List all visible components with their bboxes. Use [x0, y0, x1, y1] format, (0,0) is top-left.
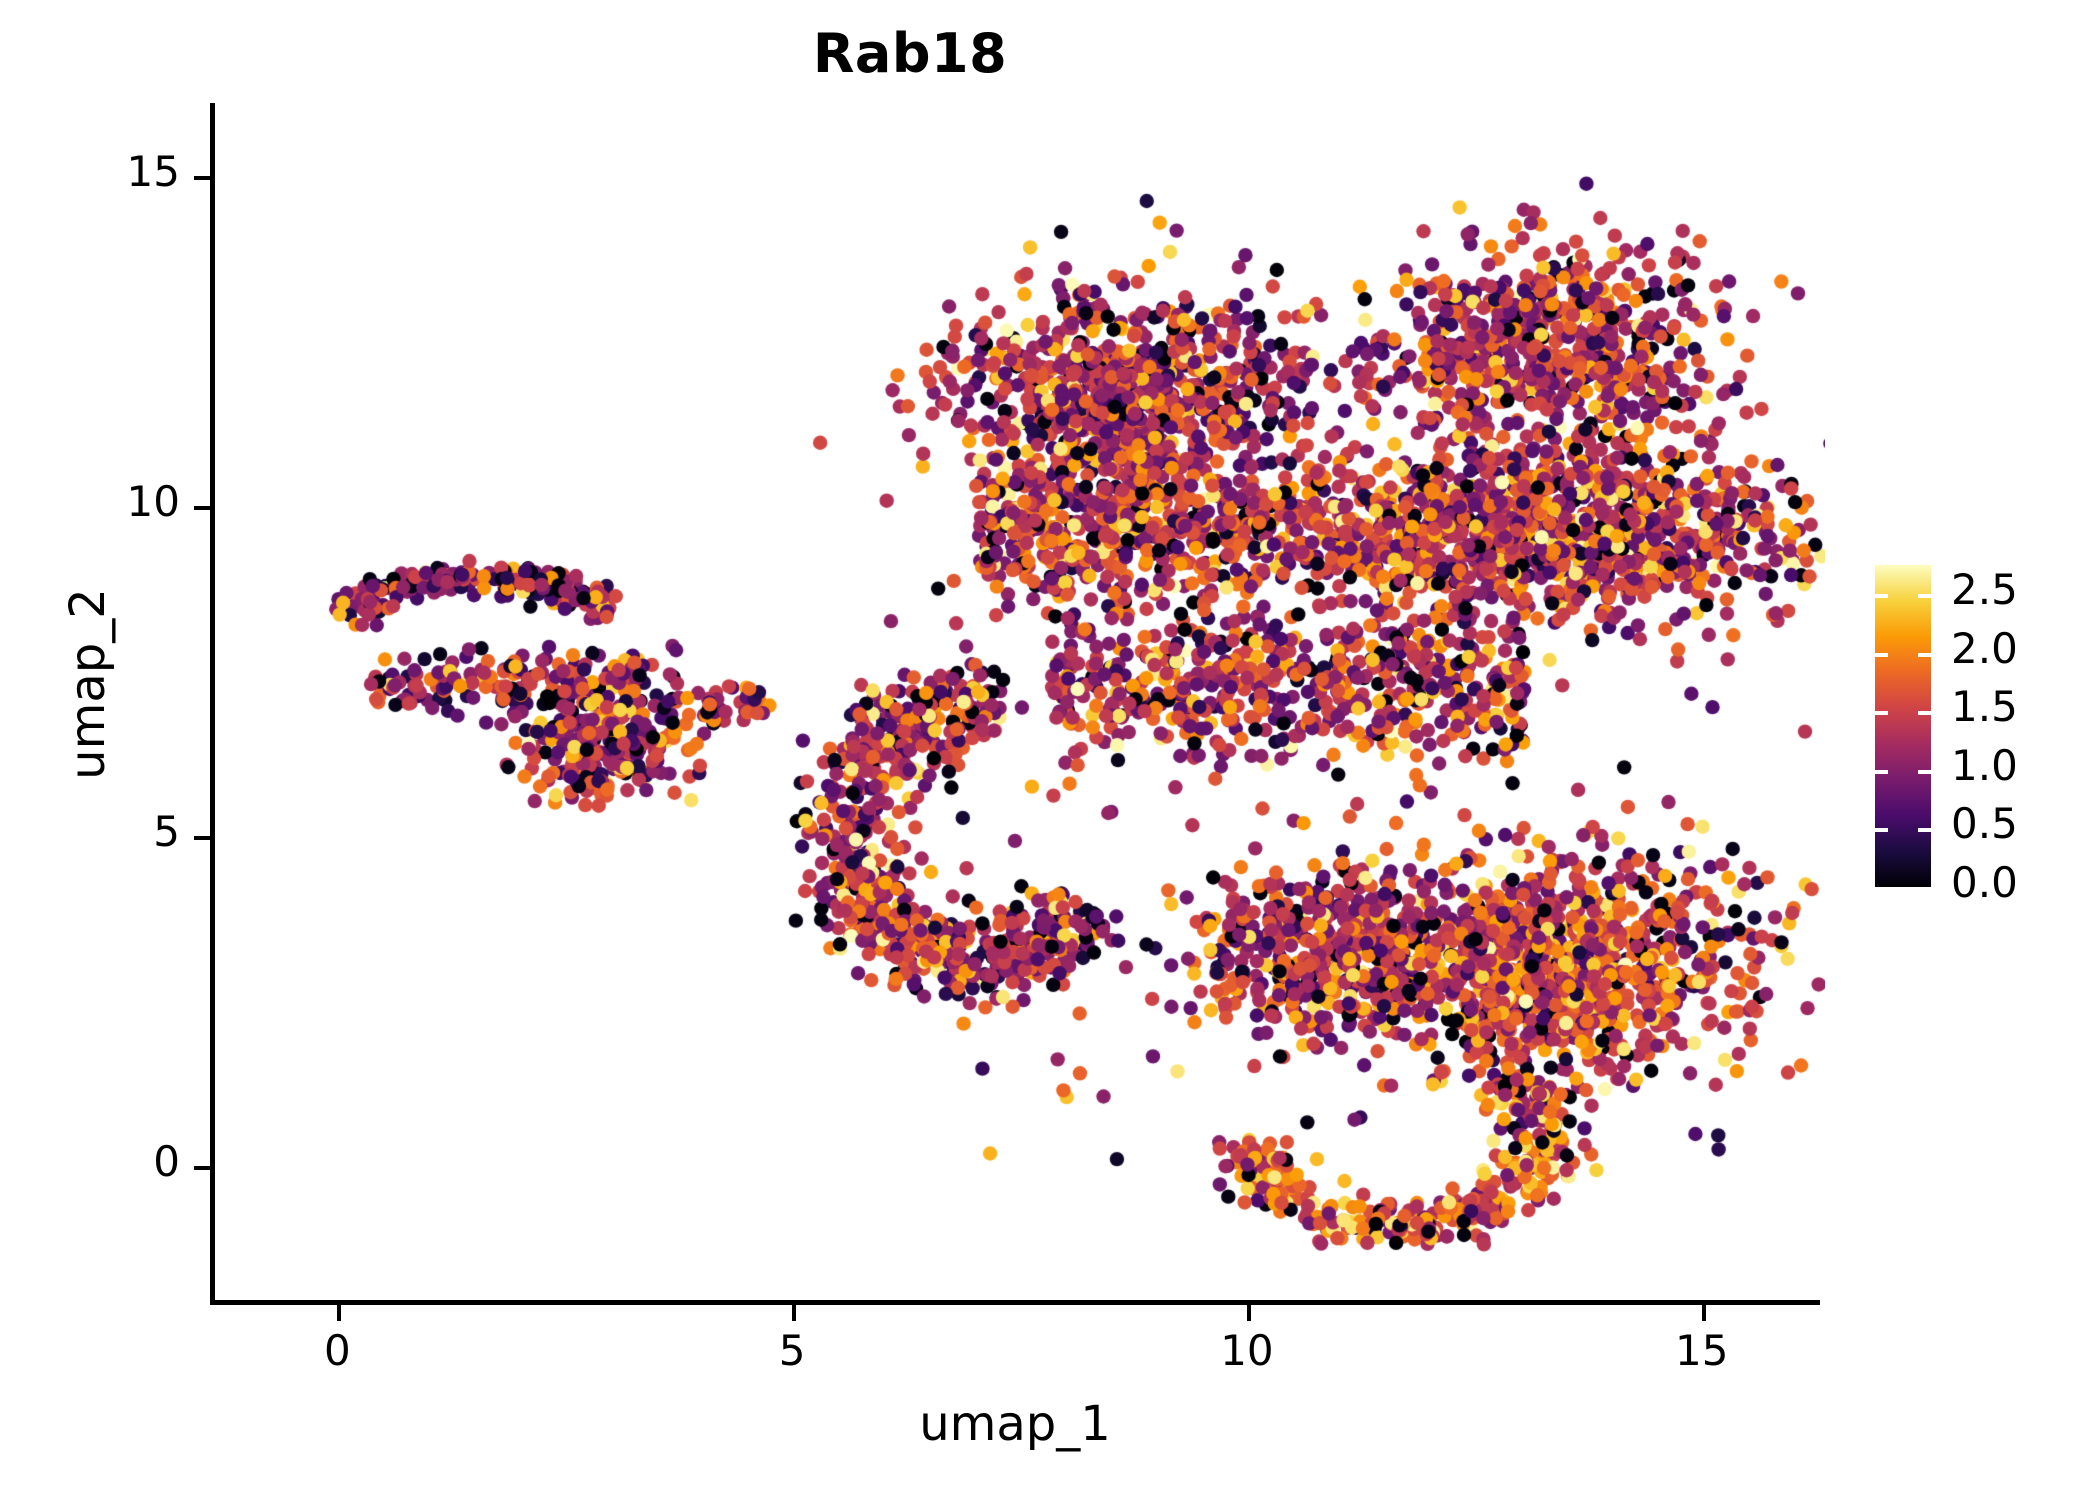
colorbar-tick-label: 0.5 [1951, 799, 2018, 848]
colorbar-tick [1918, 653, 1931, 657]
y-axis-tick-label: 15 [20, 147, 180, 196]
y-axis-label: umap_2 [60, 384, 116, 984]
x-axis-tick [337, 1305, 341, 1321]
y-axis-tick [194, 506, 210, 510]
page-title: Rab18 [0, 22, 1820, 85]
colorbar-tick-label: 1.5 [1951, 682, 2018, 731]
colorbar-tick [1918, 770, 1931, 774]
colorbar-tick-label: 1.0 [1951, 741, 2018, 790]
colorbar-tick [1875, 653, 1888, 657]
colorbar-tick [1918, 711, 1931, 715]
x-axis-tick-label: 5 [712, 1326, 872, 1375]
colorbar-tick-label: 0.0 [1951, 858, 2018, 907]
colorbar-tick [1875, 887, 1888, 891]
x-axis-tick-label: 15 [1622, 1326, 1782, 1375]
colorbar-tick [1875, 770, 1888, 774]
x-axis-tick-label: 10 [1167, 1326, 1327, 1375]
figure-root: Rab18 0 5 10 15 15 10 5 0 umap_1 umap_2 … [0, 0, 2100, 1500]
colorbar-gradient [1875, 565, 1931, 887]
colorbar: 2.52.01.51.00.50.0 [1875, 565, 1931, 887]
scatter-points-layer [215, 103, 1825, 1305]
colorbar-tick [1875, 711, 1888, 715]
x-axis-tick-label: 0 [257, 1326, 417, 1375]
x-axis-tick [1702, 1305, 1706, 1321]
colorbar-tick-label: 2.0 [1951, 624, 2018, 673]
y-axis-tick-label: 0 [20, 1137, 180, 1186]
colorbar-tick [1918, 594, 1931, 598]
y-axis-tick [194, 1166, 210, 1170]
x-axis-tick [792, 1305, 796, 1321]
x-axis-label: umap_1 [210, 1396, 1820, 1452]
colorbar-tick [1875, 594, 1888, 598]
x-axis-tick [1247, 1305, 1251, 1321]
y-axis-tick [194, 836, 210, 840]
y-axis-tick [194, 176, 210, 180]
colorbar-tick [1918, 828, 1931, 832]
scatter-plot-axes [210, 103, 1820, 1305]
colorbar-tick-label: 2.5 [1951, 565, 2018, 614]
colorbar-tick [1918, 887, 1931, 891]
colorbar-tick [1875, 828, 1888, 832]
